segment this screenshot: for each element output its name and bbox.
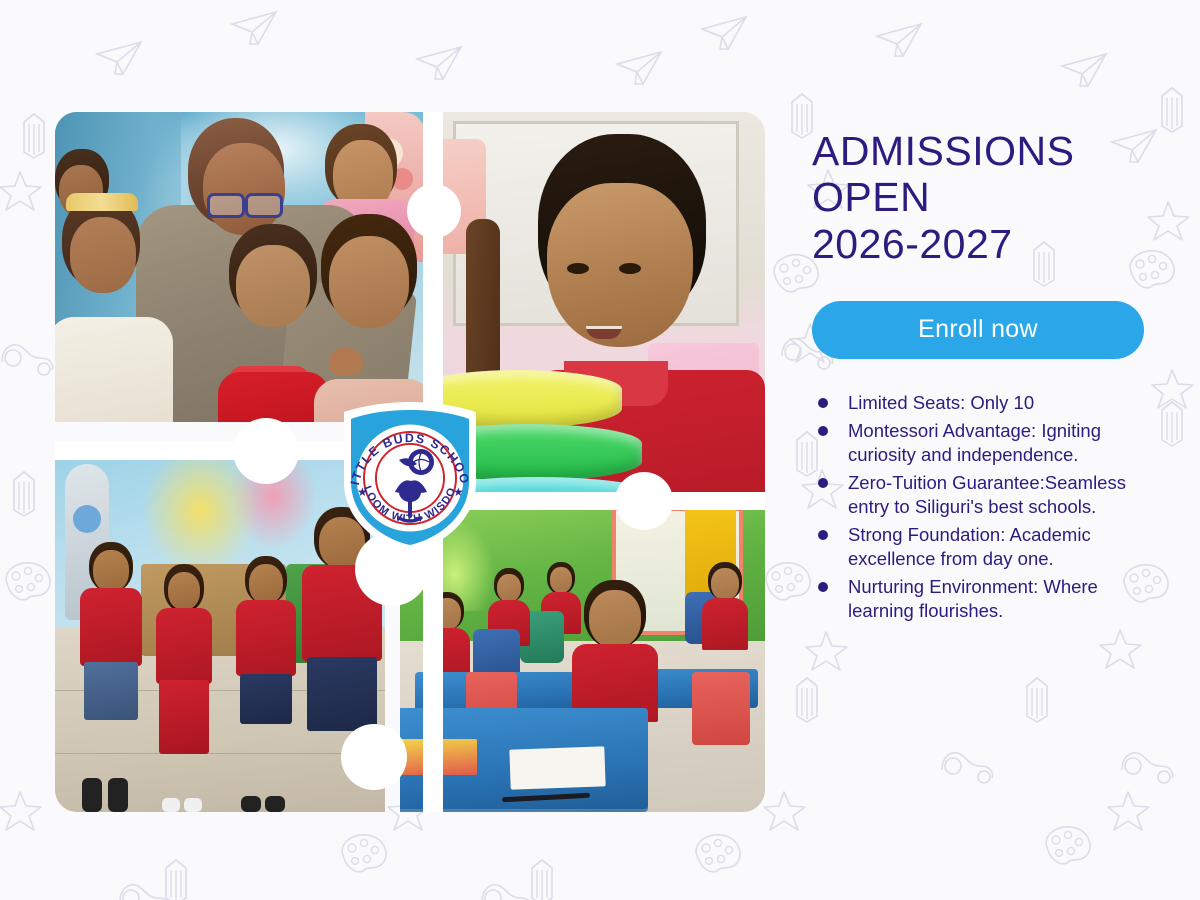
school-logo-badge: LITTLE BUDS SCHOOL BLOOM WITH WISDOM ★ ★ <box>337 400 483 555</box>
page-headline: ADMISSIONS OPEN 2026-2027 <box>812 128 1152 267</box>
list-item-label: Strong Foundation: Academic excellence f… <box>848 524 1091 569</box>
list-item: Nurturing Environment: Where learning fl… <box>812 575 1152 623</box>
list-item-label: Nurturing Environment: Where learning fl… <box>848 576 1098 621</box>
list-item: Strong Foundation: Academic excellence f… <box>812 523 1152 571</box>
list-item-label: Montessori Advantage: Igniting curiosity… <box>848 420 1101 465</box>
list-item-label: Limited Seats: Only 10 <box>848 392 1034 413</box>
bullet-dot-icon <box>818 398 828 408</box>
photo-boy-with-stacking-rings <box>440 112 765 557</box>
puzzle-knob-upper-left <box>233 418 299 484</box>
list-item-label: Zero-Tuition Guarantee:Seamless entry to… <box>848 472 1126 517</box>
bullet-dot-icon <box>818 582 828 592</box>
photo-teacher-with-children <box>55 112 425 422</box>
benefits-list: Limited Seats: Only 10 Montessori Advant… <box>812 391 1152 623</box>
list-item: Limited Seats: Only 10 <box>812 391 1152 415</box>
puzzle-knob-lower <box>341 724 407 790</box>
puzzle-knob-top <box>407 184 461 238</box>
logo-star-left: ★ <box>357 485 368 499</box>
text-column: ADMISSIONS OPEN 2026-2027 Enroll now Lim… <box>812 128 1152 627</box>
bullet-dot-icon <box>818 478 828 488</box>
enroll-now-button[interactable]: Enroll now <box>812 301 1144 359</box>
poster-root: LITTLE BUDS SCHOOL BLOOM WITH WISDOM ★ ★… <box>0 0 1200 900</box>
bullet-dot-icon <box>818 426 828 436</box>
logo-star-right: ★ <box>453 485 464 499</box>
bullet-dot-icon <box>818 530 828 540</box>
list-item: Montessori Advantage: Igniting curiosity… <box>812 419 1152 467</box>
puzzle-knob-right <box>615 472 673 530</box>
list-item: Zero-Tuition Guarantee:Seamless entry to… <box>812 471 1152 519</box>
photo-children-exercising <box>55 457 385 812</box>
